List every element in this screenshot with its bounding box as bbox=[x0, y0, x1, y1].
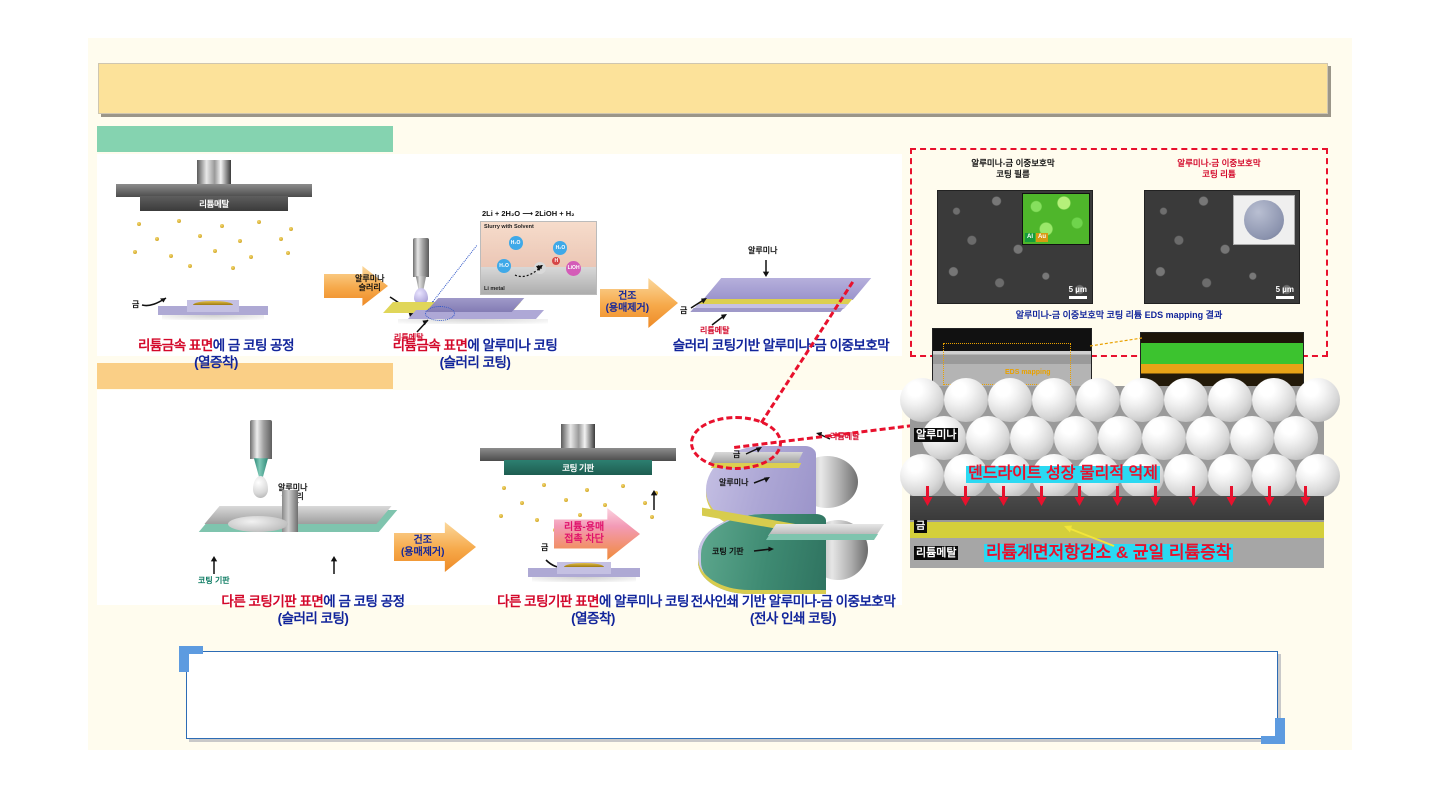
gold-vapor-dots-r1s1 bbox=[122, 218, 304, 280]
evaporator-row1-step1: 리튬메탈 bbox=[116, 160, 312, 212]
caption-blue-part: 에 금 코팅 공정 bbox=[213, 338, 294, 353]
crucible-icon bbox=[197, 160, 231, 186]
arrow-row2-1-label: 건조(용매제거) bbox=[401, 535, 444, 559]
lithium-tag: 리튬메탈 bbox=[914, 546, 958, 560]
mechanism-schematic-panel: 알루미나 덴드라이트 성장 물리적 억제 금 리튬메탈 리튬계면저항감소 & 균… bbox=[910, 386, 1324, 568]
substrate-leader-arrow-r2s3 bbox=[752, 543, 778, 557]
scalebar-lithium: 5 µm bbox=[1276, 286, 1294, 299]
sem-left-title: 알루미나-금 이중보호막코팅 필름 bbox=[918, 158, 1108, 180]
gold-label-r1s3: 금 bbox=[680, 306, 687, 315]
caption-row2-step1: 다른 코팅기판 표면에 금 코팅 공정 (슬러리 코팅) bbox=[188, 594, 438, 628]
coating-substrate-holder: 코팅 기판 bbox=[504, 460, 653, 475]
corner-accent-bottom-right-h bbox=[1261, 736, 1285, 744]
gold-label-r1s1: 금 bbox=[132, 300, 139, 309]
section-bar-row1 bbox=[97, 126, 393, 152]
gold-pointer-arrow bbox=[1050, 522, 1120, 550]
coating-substrate-label-r2s3: 코팅 기판 bbox=[712, 547, 744, 556]
alumina-leader-arrow bbox=[760, 258, 774, 280]
lithium-coupon-r1s1 bbox=[158, 300, 268, 322]
inset-bottom-label: Li metal bbox=[484, 286, 505, 292]
eds-mapping-label: EDS mapping bbox=[1005, 369, 1051, 376]
bottom-note-box bbox=[186, 651, 1278, 739]
dendrite-suppression-text: 덴드라이트 성장 물리적 억제 bbox=[966, 466, 1160, 483]
caption-row2-step3: 전사인쇄 기반 알루미나-금 이중보호막 (전사 인쇄 코팅) bbox=[648, 594, 938, 628]
li-leader-arrow-r1s2 bbox=[415, 317, 433, 335]
eds-legend: Al Au bbox=[1025, 233, 1048, 242]
evaporator-row2-step2: 코팅 기판 bbox=[480, 424, 676, 476]
sem-analysis-panel: 알루미나-금 이중보호막코팅 필름 알루미나-금 이중보호막코팅 리튬 Al A… bbox=[910, 148, 1328, 357]
title-banner bbox=[98, 63, 1328, 114]
li-leader-arrow-r1s3 bbox=[710, 312, 730, 328]
lithium-metal-holder-label: 리튬메탈 bbox=[199, 198, 229, 210]
caption-row1-step3: 슬러리 코팅기반 알루미나-금 이중보호막 bbox=[636, 338, 926, 355]
slurry-nozzle-r2s1 bbox=[250, 420, 272, 478]
slurry-reaction-inset: Slurry with Solvent Li metal H₂O H₂O H₂O… bbox=[480, 221, 597, 295]
sem-right-title: 알루미나-금 이중보호막코팅 리튬 bbox=[1124, 158, 1314, 180]
arrow-row1-2-label: 건조(용매제거) bbox=[606, 291, 649, 315]
sem-image-film: Al Au 5 µm bbox=[937, 190, 1093, 304]
inset-equation: 2Li + 2H₂O ⟶ 2LiOH + H₂ bbox=[482, 209, 574, 218]
eds-overlay-inset: Al Au bbox=[1022, 193, 1090, 245]
coated-lithium-photo bbox=[1233, 195, 1295, 245]
inset-top-label: Slurry with Solvent bbox=[484, 224, 534, 230]
sem-image-lithium: 5 µm bbox=[1144, 190, 1300, 304]
gold-tag: 금 bbox=[914, 520, 927, 533]
corner-accent-top-left-h bbox=[179, 646, 203, 654]
coating-substrate-label-r2s1: 코팅 기판 bbox=[198, 576, 230, 585]
alumina-label-r1s3: 알루미나 bbox=[748, 246, 777, 255]
alumina-on-lithium-slab bbox=[388, 296, 556, 332]
vapor-up-arrow bbox=[648, 488, 662, 512]
alumina-tag: 알루미나 bbox=[914, 428, 958, 442]
eds-section-title: 알루미나-금 이중보호막 코팅 리튬 EDS mapping 결과 bbox=[912, 310, 1326, 322]
caption-row1-step2: 리튬금속 표면에 알루미나 코팅 (슬러리 코팅) bbox=[360, 338, 590, 372]
substrate-with-blade bbox=[194, 488, 409, 550]
alumina-slurry-label-r1s2: 알루미나슬러리 bbox=[355, 274, 384, 292]
substrate-leader-arrow-2-r2s1 bbox=[328, 554, 342, 576]
alumina-leader-arrow-r2s3 bbox=[752, 474, 774, 488]
alumina-label-r2s3: 알루미나 bbox=[719, 478, 748, 487]
coating-substrate-holder-label: 코팅 기판 bbox=[562, 462, 594, 474]
caption-red-part: 리튬금속 표면 bbox=[138, 338, 213, 353]
slide-canvas: 리튬메탈 금 리튬금속 표면에 금 코팅 공정 (열증착) 알루미나슬러리 bbox=[88, 38, 1352, 750]
crucible-icon-2 bbox=[561, 424, 595, 450]
substrate-leader-arrow-r2s1 bbox=[208, 554, 222, 576]
lithium-metal-holder: 리튬메탈 bbox=[140, 196, 289, 211]
caption-row1-step1: 리튬금속 표면에 금 코팅 공정 (열증착) bbox=[106, 338, 326, 372]
gold-label-r2s2: 금 bbox=[540, 543, 549, 551]
substrate-coupon-r2s2 bbox=[528, 562, 640, 584]
caption-sub: (열증착) bbox=[194, 355, 238, 370]
scalebar-film: 5 µm bbox=[1069, 286, 1087, 299]
arrow-row2-2-label: 리튬-용매접촉 차단 bbox=[564, 522, 604, 546]
li-flux-arrows bbox=[910, 486, 1324, 516]
gold-leader-arrow-r1s3 bbox=[689, 296, 711, 312]
